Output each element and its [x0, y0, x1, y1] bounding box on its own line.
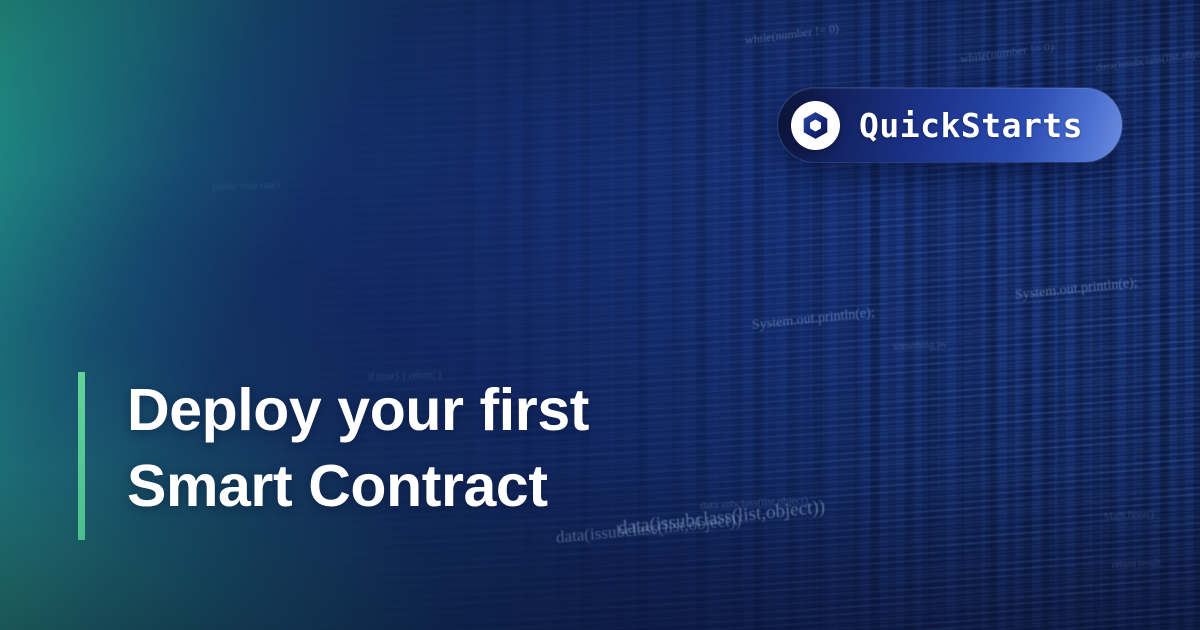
quickstarts-badge[interactable]: QuickStarts [778, 88, 1122, 162]
chainlink-hexagon-icon [791, 101, 840, 150]
title-line-2: Smart Contract [127, 448, 589, 524]
page-title: Deploy your first Smart Contract [127, 372, 589, 540]
headline-block: Deploy your first Smart Contract [78, 372, 589, 540]
title-line-1: Deploy your first [127, 372, 589, 448]
quickstarts-label: QuickStarts [859, 109, 1083, 142]
accent-bar [78, 372, 85, 540]
og-banner: while(number != 0) while(number != 0) Sy… [0, 0, 1200, 630]
